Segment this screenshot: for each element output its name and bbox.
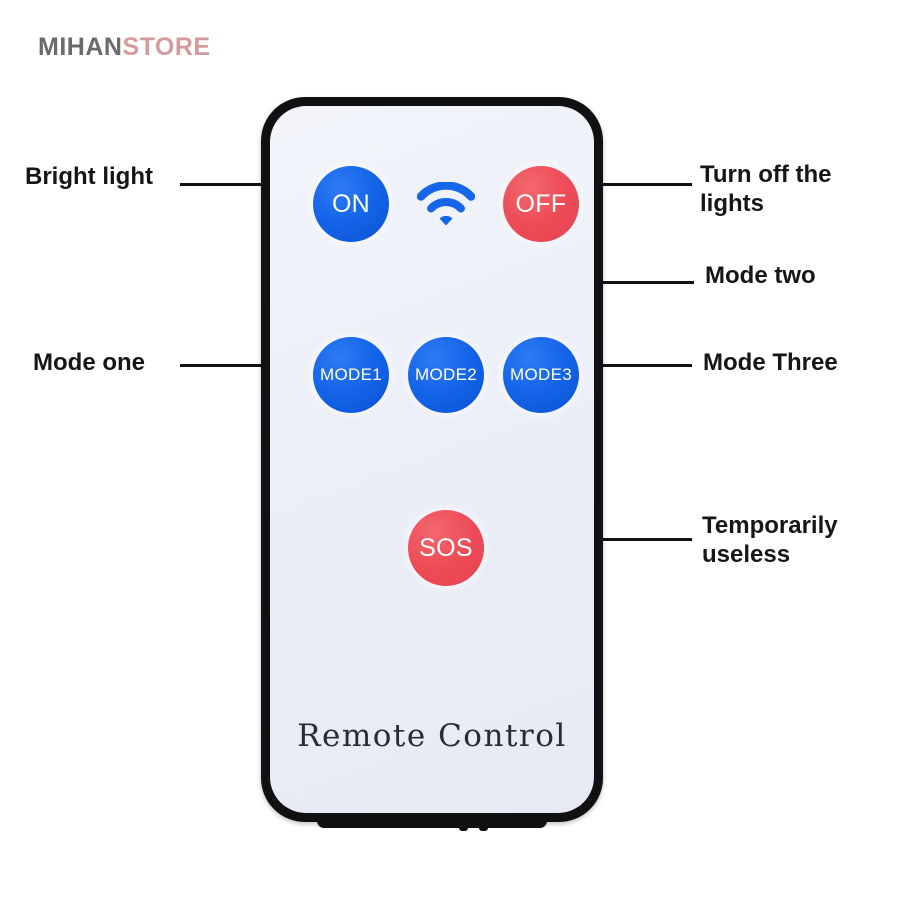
product-diagram-canvas: MIHANSTORE ON OFF MODE1: [0, 0, 900, 900]
brand-logo: MIHANSTORE: [38, 33, 211, 62]
callout-turn-off-the-lights: Turn off the lights: [700, 160, 885, 219]
remote-button-mode3-label: MODE3: [510, 365, 572, 385]
remote-control-body: ON OFF MODE1 MODE2 MODE3: [261, 97, 603, 822]
remote-button-off[interactable]: OFF: [503, 166, 579, 242]
remote-button-mode2[interactable]: MODE2: [408, 337, 484, 413]
remote-button-sos-label: SOS: [419, 534, 473, 563]
callout-mode-two: Mode two: [705, 261, 816, 290]
callout-mode-three: Mode Three: [703, 348, 838, 377]
callout-bright-light: Bright light: [25, 162, 153, 191]
callout-temporarily-useless: Temporarily useless: [702, 511, 892, 570]
remote-control-wordmark: Remote Control: [270, 718, 594, 754]
remote-button-off-label: OFF: [516, 190, 567, 219]
remote-tab-notch-left: [459, 822, 468, 831]
wifi-icon: [408, 166, 484, 242]
remote-button-mode2-label: MODE2: [415, 365, 477, 385]
remote-button-mode1[interactable]: MODE1: [313, 337, 389, 413]
remote-button-on-label: ON: [332, 190, 370, 219]
remote-button-mode3[interactable]: MODE3: [503, 337, 579, 413]
brand-logo-part-a: MIHAN: [38, 33, 122, 61]
remote-button-on[interactable]: ON: [313, 166, 389, 242]
remote-button-mode1-label: MODE1: [320, 365, 382, 385]
callout-mode-one: Mode one: [33, 348, 145, 377]
brand-logo-part-b: STORE: [122, 33, 210, 61]
remote-button-sos[interactable]: SOS: [408, 510, 484, 586]
remote-tab-notch-right: [479, 822, 488, 831]
remote-control-faceplate: ON OFF MODE1 MODE2 MODE3: [270, 106, 594, 813]
remote-bottom-tab: [317, 814, 547, 828]
